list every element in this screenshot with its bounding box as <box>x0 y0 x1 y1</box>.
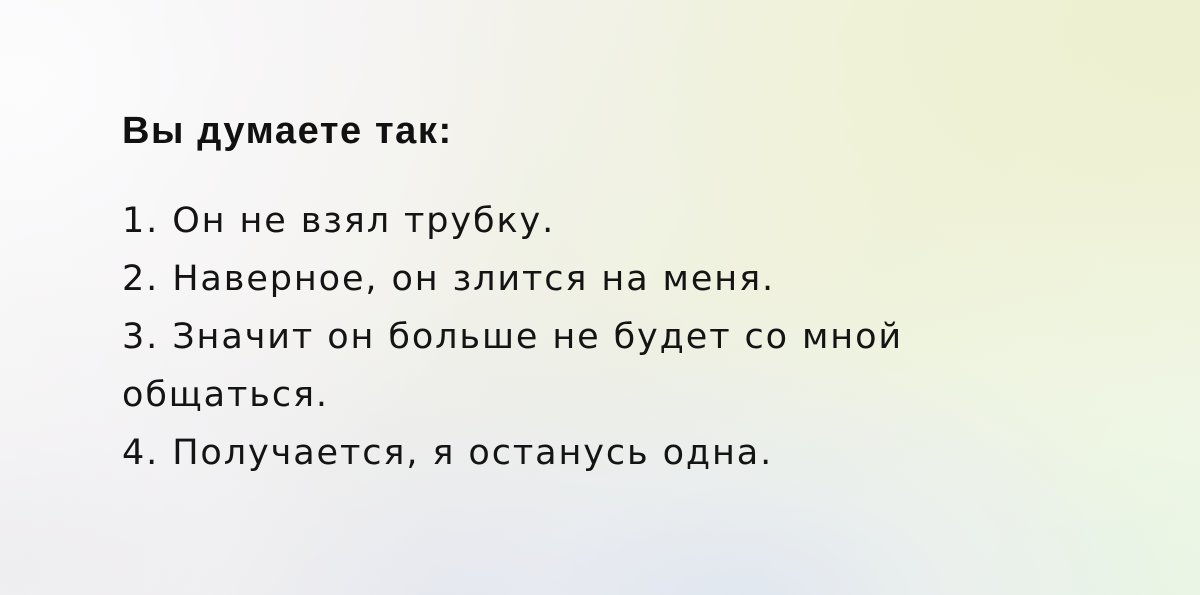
slide-heading: Вы думаете так: <box>122 109 453 153</box>
list-item: 1. Он не взял трубку. <box>122 192 1057 250</box>
slide-canvas: Вы думаете так: 1. Он не взял трубку. 2.… <box>0 0 1200 595</box>
list-item: 3. Значит он больше не будет со мной общ… <box>122 308 1057 424</box>
list-item: 4. Получается, я останусь одна. <box>122 424 1057 482</box>
slide-content: Вы думаете так: 1. Он не взял трубку. 2.… <box>122 0 1082 595</box>
thought-list: 1. Он не взял трубку. 2. Наверное, он зл… <box>122 192 1057 482</box>
list-item: 2. Наверное, он злится на меня. <box>122 250 1057 308</box>
